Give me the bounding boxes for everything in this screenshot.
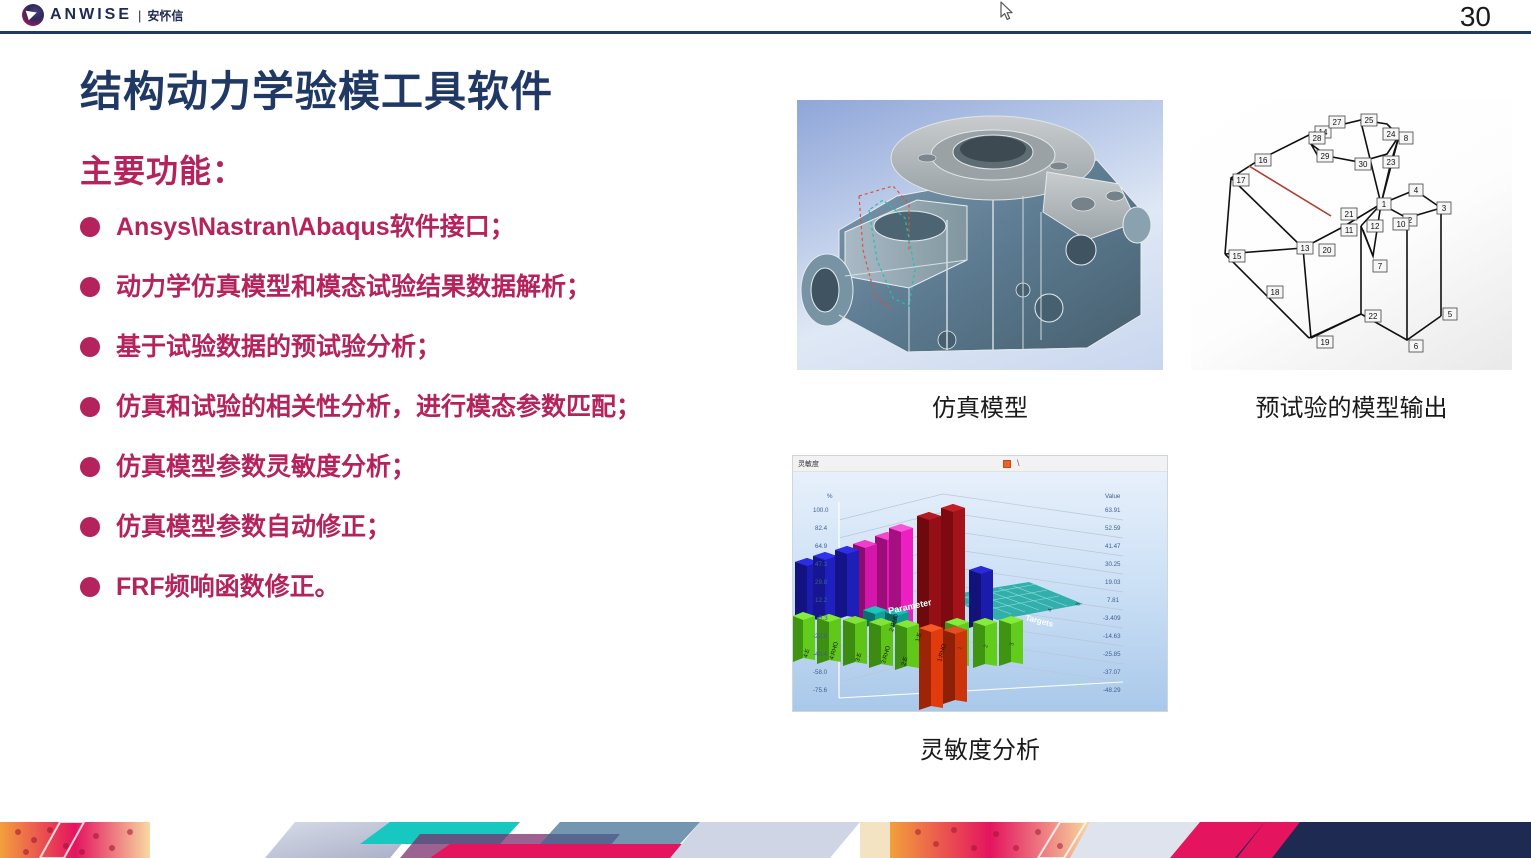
slide-header: ANWISE | 安怀信 30	[0, 0, 1531, 32]
axis-tick: 47.3	[815, 561, 828, 568]
list-item-label: FRF频响函数修正。	[116, 568, 340, 606]
brand-separator: |	[138, 8, 141, 23]
bar-green-8	[999, 616, 1023, 666]
node-label: 22	[1365, 310, 1381, 322]
svg-text:12: 12	[1371, 222, 1380, 231]
list-item: 动力学仿真模型和模态试验结果数据解析；	[80, 268, 800, 328]
list-item-label: 仿真模型参数自动修正；	[116, 508, 391, 546]
list-item-label: 仿真和试验的相关性分析，进行模态参数匹配；	[116, 388, 641, 426]
axis-unit-percent: %	[827, 493, 833, 500]
bar-dark-red-2	[917, 512, 941, 636]
svg-text:20: 20	[1323, 246, 1332, 255]
section-subtitle: 主要功能：	[80, 146, 245, 192]
axis-tick: -40.4	[813, 651, 828, 658]
svg-text:10: 10	[1397, 220, 1406, 229]
pretest-wireframe-image: 1 2 3 4 5 6 7 8 10 11 12 13 14 15 16 17 …	[1191, 100, 1512, 370]
node-label: 28	[1309, 132, 1325, 144]
bullet-dot-icon	[80, 457, 100, 477]
header-divider	[0, 31, 1531, 34]
axis-tick: -25.85	[1103, 651, 1121, 658]
page-number: 30	[1460, 1, 1491, 33]
sensitivity-analysis-window: 灵敏度 \	[792, 455, 1168, 712]
axis-tick: 30.25	[1105, 561, 1121, 568]
node-label: 16	[1255, 154, 1271, 166]
svg-text:27: 27	[1333, 118, 1342, 127]
bullet-dot-icon	[80, 217, 100, 237]
node-label: 15	[1229, 250, 1245, 262]
anwise-mark-icon	[22, 4, 44, 26]
node-label: 27	[1329, 116, 1345, 128]
axis-tick: 19.03	[1105, 579, 1121, 586]
bullet-dot-icon	[80, 517, 100, 537]
node-label: 20	[1319, 244, 1335, 256]
node-label: 13	[1297, 242, 1313, 254]
node-label: 5	[1443, 308, 1457, 320]
node-label: 8	[1399, 132, 1413, 144]
slide-footer: ANWISE	[0, 818, 1531, 858]
axis-tick: 82.4	[815, 525, 828, 532]
bullet-dot-icon	[80, 337, 100, 357]
node-label: 10	[1393, 218, 1409, 230]
cad-model-image	[797, 100, 1163, 370]
axis-tick: -14.63	[1103, 633, 1121, 640]
node-label: 25	[1361, 114, 1377, 126]
svg-text:1: 1	[1382, 200, 1387, 209]
node-label: 7	[1373, 260, 1387, 272]
axis-tick: 63.91	[1105, 507, 1121, 514]
axis-tick: -37.07	[1103, 669, 1121, 676]
cad-housing-render	[797, 100, 1163, 370]
list-item: FRF频响函数修正。	[80, 568, 800, 628]
list-item-label: 动力学仿真模型和模态试验结果数据解析；	[116, 268, 591, 306]
cad-model-caption: 仿真模型	[797, 388, 1163, 423]
axis-tick: 64.9	[815, 543, 828, 550]
node-label: 6	[1409, 340, 1423, 352]
presentation-slide: ANWISE | 安怀信 30 结构动力学验模工具软件 主要功能： Ansys\…	[0, 0, 1531, 858]
bar-blue-4	[969, 566, 993, 628]
node-label: 12	[1367, 220, 1383, 232]
axis-tick: 100.0	[813, 507, 829, 514]
sensitivity-3d-bar-chart: % 100.0 82.4 64.9 47.3 29.8 12.2 -5.3 -2…	[793, 472, 1168, 712]
sensitivity-caption: 灵敏度分析	[792, 730, 1168, 765]
list-item: Ansys\Nastran\Abaqus软件接口；	[80, 208, 800, 268]
axis-tick: -75.6	[813, 687, 828, 694]
node-label: 4	[1409, 184, 1423, 196]
axis-tick: 41.47	[1105, 543, 1121, 550]
node-label: 24	[1383, 128, 1399, 140]
svg-text:4: 4	[1414, 186, 1419, 195]
node-label: 30	[1355, 158, 1371, 170]
svg-text:11: 11	[1345, 226, 1354, 235]
node-label: 17	[1233, 174, 1249, 186]
list-item: 仿真模型参数自动修正；	[80, 508, 800, 568]
node-label: 21	[1341, 208, 1357, 220]
svg-text:16: 16	[1259, 156, 1268, 165]
bar-orange-2	[943, 626, 967, 704]
svg-text:8: 8	[1404, 134, 1409, 143]
feature-bullet-list: Ansys\Nastran\Abaqus软件接口； 动力学仿真模型和模态试验结果…	[80, 208, 800, 628]
axis-tick: 29.8	[815, 579, 828, 586]
list-item-label: 基于试验数据的预试验分析；	[116, 328, 441, 366]
svg-text:5: 5	[1448, 310, 1453, 319]
node-label: 11	[1341, 224, 1357, 236]
bar-orange-1	[919, 624, 943, 710]
svg-text:13: 13	[1301, 244, 1310, 253]
node-label: 23	[1383, 156, 1399, 168]
svg-text:30: 30	[1359, 160, 1368, 169]
svg-text:22: 22	[1369, 312, 1378, 321]
chart-tab-icon[interactable]	[1003, 460, 1011, 468]
axis-tick: -48.29	[1103, 687, 1121, 694]
tab-separator: \	[1017, 458, 1020, 468]
brand-name-cn: 安怀信	[147, 7, 183, 24]
node-label: 19	[1317, 336, 1333, 348]
node-wireframe-diagram: 1 2 3 4 5 6 7 8 10 11 12 13 14 15 16 17 …	[1191, 100, 1512, 370]
sensitivity-window-titlebar: 灵敏度 \	[793, 456, 1168, 472]
svg-text:6: 6	[1414, 342, 1419, 351]
bullet-dot-icon	[80, 577, 100, 597]
svg-text:23: 23	[1387, 158, 1396, 167]
bar-blue-3	[835, 546, 859, 620]
axis-tick: 7.81	[1107, 597, 1120, 604]
bar-green-7	[973, 618, 997, 668]
svg-text:15: 15	[1233, 252, 1242, 261]
axis-label-value: Value	[1105, 493, 1121, 500]
node-label: 29	[1317, 150, 1333, 162]
list-item-label: 仿真模型参数灵敏度分析；	[116, 448, 416, 486]
svg-text:25: 25	[1365, 116, 1374, 125]
bar-dark-red	[941, 504, 965, 634]
axis-tick: 12.2	[815, 597, 828, 604]
svg-text:18: 18	[1271, 288, 1280, 297]
anwise-logo: ANWISE | 安怀信	[22, 4, 183, 26]
svg-text:17: 17	[1237, 176, 1246, 185]
svg-text:29: 29	[1321, 152, 1330, 161]
wireframe-caption: 预试验的模型输出	[1191, 388, 1512, 423]
list-item: 仿真模型参数灵敏度分析；	[80, 448, 800, 508]
list-item: 仿真和试验的相关性分析，进行模态参数匹配；	[80, 388, 800, 448]
svg-text:28: 28	[1313, 134, 1322, 143]
page-title: 结构动力学验模工具软件	[80, 58, 553, 119]
axis-tick: -22.9	[813, 633, 828, 640]
list-item: 基于试验数据的预试验分析；	[80, 328, 800, 388]
axis-tick: -58.0	[813, 669, 828, 676]
axis-tick: 52.59	[1105, 525, 1121, 532]
list-item-label: Ansys\Nastran\Abaqus软件接口；	[116, 208, 515, 246]
node-label: 18	[1267, 286, 1283, 298]
bullet-dot-icon	[80, 397, 100, 417]
svg-text:7: 7	[1378, 262, 1383, 271]
svg-text:24: 24	[1387, 130, 1396, 139]
brand-name: ANWISE	[50, 6, 132, 24]
node-label: 3	[1437, 202, 1451, 214]
axis-tick: -5.3	[817, 615, 828, 622]
footer-decoration	[0, 818, 1531, 858]
node-label: 1	[1377, 198, 1391, 210]
svg-text:3: 3	[1442, 204, 1447, 213]
sensitivity-window-title: 灵敏度	[798, 459, 819, 469]
bullet-dot-icon	[80, 277, 100, 297]
svg-text:21: 21	[1345, 210, 1354, 219]
svg-text:19: 19	[1321, 338, 1330, 347]
axis-tick: -3.409	[1103, 615, 1121, 622]
